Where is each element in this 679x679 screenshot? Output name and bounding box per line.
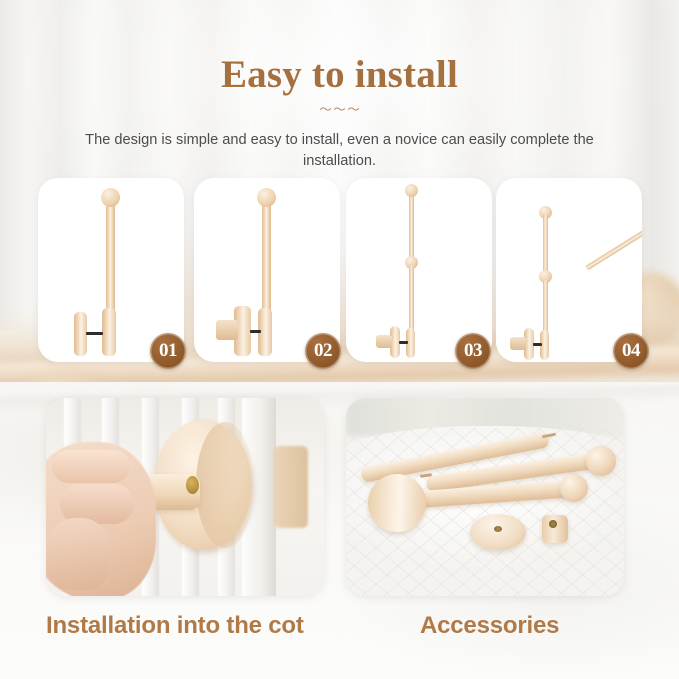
metal-bolt xyxy=(250,330,261,333)
wood-upper-rod xyxy=(543,214,548,276)
divider-wave-icon: 〜 xyxy=(333,105,345,116)
decorative-divider: 〜 〜 〜 xyxy=(310,104,370,116)
hand-finger xyxy=(52,450,130,483)
hand-thumb xyxy=(46,518,108,590)
cot-rail-wood-pad xyxy=(274,446,308,528)
wood-peg xyxy=(216,320,238,340)
cylinder-screw-hole xyxy=(549,520,557,528)
step-badge-01: 01 xyxy=(150,333,186,369)
wood-lower-rod xyxy=(409,266,414,332)
caption-accessories: Accessories xyxy=(420,612,559,640)
wood-ball-finial xyxy=(560,474,588,502)
wood-ball-finial xyxy=(586,446,616,476)
wood-rod-base xyxy=(102,308,116,356)
step-badge-03: 03 xyxy=(455,333,491,369)
wood-lower-rod xyxy=(543,280,548,336)
wood-ball-finial xyxy=(101,188,120,207)
photo-accessories xyxy=(346,398,624,596)
wood-mounting-disc xyxy=(470,514,526,550)
wood-peg xyxy=(376,335,392,348)
header: Easy to install 〜 〜 〜 The design is simp… xyxy=(0,0,679,172)
wood-ball-finial xyxy=(405,184,418,197)
caption-installation-into-the-cot: Installation into the cot xyxy=(46,612,304,640)
wood-peg xyxy=(510,337,526,350)
wood-upper-rod xyxy=(409,192,414,264)
wood-top-arm xyxy=(585,207,642,271)
step-badge-02: 02 xyxy=(305,333,341,369)
wooden-clamp-rim xyxy=(196,422,254,548)
step-card-04 xyxy=(496,178,642,362)
page-subtitle: The design is simple and easy to install… xyxy=(80,130,600,172)
wood-base-disc xyxy=(368,474,426,532)
product-infographic-page: Easy to install 〜 〜 〜 The design is simp… xyxy=(0,0,679,679)
wood-cylinder-peg xyxy=(542,515,568,543)
mounting-disc-screw-hole xyxy=(494,526,502,532)
metal-bolt xyxy=(399,341,408,344)
wood-ball-finial xyxy=(257,188,276,207)
divider-wave-icon: 〜 xyxy=(319,105,331,116)
brass-screw-icon xyxy=(186,476,199,494)
photo-installation-into-the-cot xyxy=(46,398,324,596)
page-title: Easy to install xyxy=(0,0,679,97)
divider-wave-icon: 〜 xyxy=(347,105,359,116)
step-badge-04: 04 xyxy=(613,333,649,369)
metal-bolt xyxy=(533,343,542,346)
metal-bolt xyxy=(86,332,103,335)
